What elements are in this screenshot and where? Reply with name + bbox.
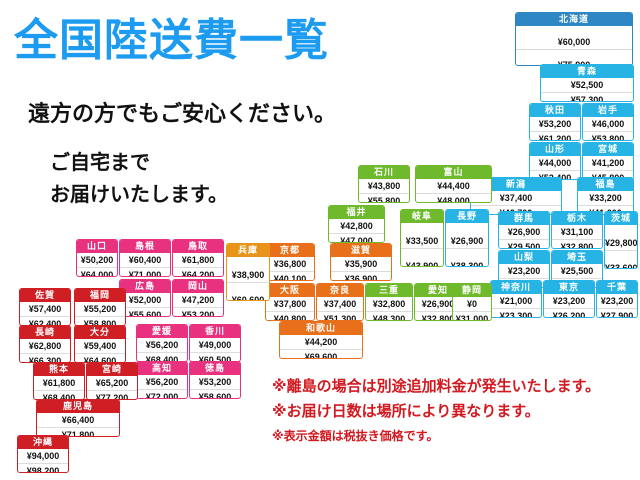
pref-box-kochi[interactable]: 高知¥56,200¥72,000	[136, 361, 188, 399]
pref-fee2-hiroshima: ¥55,600	[120, 307, 170, 317]
pref-box-shiga[interactable]: 滋賀¥35,900¥36,900	[330, 243, 392, 281]
pref-fee1-saga: ¥57,400	[20, 302, 70, 316]
pref-fee1-yamaguchi: ¥50,200	[77, 253, 117, 267]
pref-name-hiroshima: 広島	[120, 280, 170, 293]
pref-name-nagano: 長野	[446, 210, 488, 223]
pref-name-miyagi: 宮城	[583, 143, 633, 156]
pref-name-iwate: 岩手	[583, 104, 633, 117]
pref-fee2-tottori: ¥64,200	[173, 267, 223, 277]
pref-fee1-oita: ¥59,400	[75, 339, 125, 353]
pref-fee2-okinawa: ¥98,200	[18, 463, 68, 473]
note-remote-islands: ※離島の場合は別途追加料金が発生いたします。	[272, 375, 600, 396]
pref-fee1-kumamoto: ¥61,800	[34, 376, 84, 390]
pref-fee2-gunma: ¥29,500	[499, 239, 549, 249]
pref-fee1-fukushima: ¥33,200	[578, 191, 633, 205]
pref-fee2-chiba: ¥27,900	[597, 308, 637, 318]
pref-box-shimane[interactable]: 島根¥60,400¥71,000	[119, 239, 171, 277]
pref-box-aomori[interactable]: 青森¥52,500¥57,300	[540, 64, 634, 102]
pref-box-hokkaido[interactable]: 北海道¥60,000¥75,900	[515, 12, 633, 66]
pref-fee1-ishikawa: ¥43,800	[359, 179, 409, 193]
pref-fee1-gifu: ¥33,500	[401, 223, 443, 248]
pref-fee1-kyoto: ¥36,800	[266, 257, 314, 271]
pref-name-tottori: 鳥取	[173, 240, 223, 253]
pref-fee2-kyoto: ¥40,100	[266, 271, 314, 281]
pref-fee1-kagawa: ¥49,000	[190, 338, 240, 352]
pref-fee1-iwate: ¥46,000	[583, 117, 633, 131]
pref-fee2-ibaraki: ¥33,600	[605, 250, 637, 270]
pref-fee1-fukui: ¥42,800	[329, 219, 384, 233]
pref-name-kagawa: 香川	[190, 325, 240, 338]
pref-box-tochigi[interactable]: 栃木¥31,100¥32,800	[551, 211, 603, 249]
subtitle-line-2: ご自宅まで	[50, 148, 150, 178]
pref-name-yamanashi: 山梨	[499, 251, 549, 264]
pref-fee1-shizuoka: ¥0	[453, 297, 491, 311]
pref-name-gifu: 岐阜	[401, 210, 443, 223]
pref-box-kagawa[interactable]: 香川¥49,000¥60,500	[189, 324, 241, 362]
pref-fee2-ishikawa: ¥55,800	[359, 193, 409, 203]
pref-box-kyoto[interactable]: 京都¥36,800¥40,100	[265, 243, 315, 281]
pref-box-toyama[interactable]: 富山¥44,400¥48,000	[415, 165, 492, 203]
pref-fee1-kanagawa: ¥21,000	[491, 294, 541, 308]
pref-name-yamagata: 山形	[530, 143, 580, 156]
pref-fee2-shizuoka: ¥31,000	[453, 311, 491, 321]
pref-fee1-hiroshima: ¥52,000	[120, 293, 170, 307]
pref-fee1-kochi: ¥56,200	[137, 375, 187, 389]
pref-name-fukui: 福井	[329, 206, 384, 219]
pref-name-miyazaki: 宮崎	[87, 363, 137, 376]
pref-box-ishikawa[interactable]: 石川¥43,800¥55,800	[358, 165, 410, 203]
pref-fee2-toyama: ¥48,000	[416, 193, 491, 203]
pref-name-ishikawa: 石川	[359, 166, 409, 179]
pref-name-tokushima: 徳島	[190, 362, 240, 375]
pref-box-saga[interactable]: 佐賀¥57,400¥62,400	[19, 288, 71, 326]
pref-fee2-mie: ¥48,300	[366, 311, 412, 321]
pref-name-mie: 三重	[366, 284, 412, 297]
pref-box-chiba[interactable]: 千葉¥23,200¥27,900	[596, 280, 638, 318]
pref-name-yamaguchi: 山口	[77, 240, 117, 253]
pref-fee1-tokushima: ¥53,200	[190, 375, 240, 389]
pref-box-oita[interactable]: 大分¥59,400¥64,600	[74, 325, 126, 363]
pref-fee2-nagano: ¥38,300	[446, 248, 488, 268]
pref-box-okinawa[interactable]: 沖縄¥94,000¥98,200	[17, 435, 69, 473]
pref-name-shiga: 滋賀	[331, 244, 391, 257]
pref-fee2-kanagawa: ¥23,300	[491, 308, 541, 318]
pref-fee2-tokushima: ¥58,600	[190, 389, 240, 399]
pref-fee2-aomori: ¥57,300	[541, 92, 633, 102]
pref-name-kumamoto: 熊本	[34, 363, 84, 376]
pref-fee2-yamaguchi: ¥64,000	[77, 267, 117, 277]
pref-name-okinawa: 沖縄	[18, 436, 68, 449]
pref-box-tottori[interactable]: 鳥取¥61,800¥64,200	[172, 239, 224, 277]
pref-fee2-kochi: ¥72,000	[137, 389, 187, 399]
pref-fee1-aomori: ¥52,500	[541, 78, 633, 92]
pref-box-osaka[interactable]: 大阪¥37,800¥40,800	[265, 283, 315, 321]
note-delivery-days: ※お届け日数は場所により異なります。	[272, 400, 540, 421]
pref-box-gifu[interactable]: 岐阜¥33,500¥43,900	[400, 209, 444, 267]
pref-name-chiba: 千葉	[597, 281, 637, 294]
pref-box-mie[interactable]: 三重¥32,800¥48,300	[365, 283, 413, 321]
pref-fee1-miyagi: ¥41,200	[583, 156, 633, 170]
pref-name-fukushima: 福島	[578, 178, 633, 191]
pref-box-tokyo[interactable]: 東京¥23,200¥26,200	[543, 280, 595, 318]
pref-box-kagoshima[interactable]: 鹿児島¥66,400¥71,800	[36, 399, 120, 437]
pref-fee1-wakayama: ¥44,200	[280, 335, 362, 349]
pref-name-fukuoka: 福岡	[75, 289, 125, 302]
pref-box-ibaraki[interactable]: 茨城¥29,800¥33,600	[604, 211, 638, 269]
pref-box-iwate[interactable]: 岩手¥46,000¥53,800	[582, 103, 634, 141]
pref-box-fukuoka[interactable]: 福岡¥55,200¥58,800	[74, 288, 126, 326]
pref-name-akita: 秋田	[530, 104, 580, 117]
pref-name-toyama: 富山	[416, 166, 491, 179]
pref-fee1-nara: ¥37,400	[317, 297, 363, 311]
pref-fee2-nara: ¥51,300	[317, 311, 363, 321]
page-title: 全国陸送費一覧	[14, 13, 329, 69]
pref-fee2-tokyo: ¥26,200	[544, 308, 594, 318]
pref-fee1-toyama: ¥44,400	[416, 179, 491, 193]
pref-fee1-mie: ¥32,800	[366, 297, 412, 311]
pref-box-kanagawa[interactable]: 神奈川¥21,000¥23,300	[490, 280, 542, 318]
pref-fee1-okayama: ¥47,200	[173, 293, 223, 307]
pref-box-ehime[interactable]: 愛媛¥56,200¥68,400	[136, 324, 188, 362]
pref-fee2-fukui: ¥47,000	[329, 233, 384, 243]
pref-fee1-shiga: ¥35,900	[331, 257, 391, 271]
pref-fee1-miyazaki: ¥65,200	[87, 376, 137, 390]
pref-fee1-osaka: ¥37,800	[266, 297, 314, 311]
pref-fee2-wakayama: ¥69,600	[280, 349, 362, 359]
pref-fee2-tochigi: ¥32,800	[552, 239, 602, 249]
pref-box-yamaguchi[interactable]: 山口¥50,200¥64,000	[76, 239, 118, 277]
note-tax-excluded: ※表示金額は税抜き価格です。	[272, 427, 438, 444]
pref-name-hokkaido: 北海道	[516, 13, 632, 26]
pref-box-okayama[interactable]: 岡山¥47,200¥53,200	[172, 279, 224, 317]
pref-fee2-okayama: ¥53,200	[173, 307, 223, 317]
pref-fee1-ibaraki: ¥29,800	[605, 225, 637, 250]
pref-fee2-shiga: ¥36,900	[331, 271, 391, 281]
pref-box-hyogo[interactable]: 兵庫¥38,900¥60,600	[226, 243, 270, 301]
pref-name-tochigi: 栃木	[552, 212, 602, 225]
pref-fee1-gunma: ¥26,900	[499, 225, 549, 239]
pref-box-nagano[interactable]: 長野¥26,900¥38,300	[445, 209, 489, 267]
pref-box-gunma[interactable]: 群馬¥26,900¥29,500	[498, 211, 550, 249]
pref-box-tokushima[interactable]: 徳島¥53,200¥58,600	[189, 361, 241, 399]
pref-name-shimane: 島根	[120, 240, 170, 253]
pref-name-ibaraki: 茨城	[605, 212, 637, 225]
pref-box-kumamoto[interactable]: 熊本¥61,800¥68,400	[33, 362, 85, 400]
pref-name-gunma: 群馬	[499, 212, 549, 225]
pref-fee1-okinawa: ¥94,000	[18, 449, 68, 463]
pref-fee2-shimane: ¥71,000	[120, 267, 170, 277]
pref-name-saga: 佐賀	[20, 289, 70, 302]
pref-name-ehime: 愛媛	[137, 325, 187, 338]
pref-name-kyoto: 京都	[266, 244, 314, 257]
pref-fee2-gifu: ¥43,900	[401, 248, 443, 268]
pref-fee1-yamagata: ¥44,000	[530, 156, 580, 170]
pref-box-yamagata[interactable]: 山形¥44,000¥52,400	[529, 142, 581, 180]
pref-name-tokyo: 東京	[544, 281, 594, 294]
pref-fee1-shimane: ¥60,400	[120, 253, 170, 267]
pref-name-shizuoka: 静岡	[453, 284, 491, 297]
pref-name-saitama: 埼玉	[552, 251, 602, 264]
pref-box-fukushima[interactable]: 福島¥33,200¥41,600	[577, 177, 634, 215]
pref-name-kagoshima: 鹿児島	[37, 400, 119, 413]
subtitle-line-1: 遠方の方でもご安心ください。	[28, 101, 336, 127]
pref-name-osaka: 大阪	[266, 284, 314, 297]
pref-box-wakayama[interactable]: 和歌山¥44,200¥69,600	[279, 321, 363, 359]
pref-box-miyazaki[interactable]: 宮崎¥65,200¥77,200	[86, 362, 138, 400]
pref-name-nagasaki: 長崎	[20, 326, 70, 339]
pref-name-wakayama: 和歌山	[280, 322, 362, 335]
pref-fee1-hyogo: ¥38,900	[227, 257, 269, 282]
pref-name-kochi: 高知	[137, 362, 187, 375]
pref-fee1-ehime: ¥56,200	[137, 338, 187, 352]
pref-fee1-chiba: ¥23,200	[597, 294, 637, 308]
pref-fee1-tokyo: ¥23,200	[544, 294, 594, 308]
pref-fee2-iwate: ¥53,800	[583, 131, 633, 141]
pref-name-aomori: 青森	[541, 65, 633, 78]
pref-box-shizuoka[interactable]: 静岡¥0¥31,000	[452, 283, 492, 321]
pref-name-oita: 大分	[75, 326, 125, 339]
pref-box-fukui[interactable]: 福井¥42,800¥47,000	[328, 205, 385, 243]
pref-fee1-tottori: ¥61,800	[173, 253, 223, 267]
pref-fee2-akita: ¥61,200	[530, 131, 580, 141]
pref-box-miyagi[interactable]: 宮城¥41,200¥45,800	[582, 142, 634, 180]
pref-fee2-hyogo: ¥60,600	[227, 282, 269, 302]
pref-fee1-hokkaido: ¥60,000	[516, 26, 632, 49]
pref-box-nagasaki[interactable]: 長崎¥62,800¥66,300	[19, 325, 71, 363]
pref-name-nara: 奈良	[317, 284, 363, 297]
pref-fee1-kagoshima: ¥66,400	[37, 413, 119, 427]
shipping-fee-poster: 全国陸送費一覧 遠方の方でもご安心ください。 ご自宅まで お届けいたします。 北…	[0, 0, 640, 480]
pref-fee1-yamanashi: ¥23,200	[499, 264, 549, 278]
pref-fee2-osaka: ¥40,800	[266, 311, 314, 321]
pref-fee1-nagasaki: ¥62,800	[20, 339, 70, 353]
pref-name-kanagawa: 神奈川	[491, 281, 541, 294]
pref-fee1-akita: ¥53,200	[530, 117, 580, 131]
pref-fee1-fukuoka: ¥55,200	[75, 302, 125, 316]
pref-name-okayama: 岡山	[173, 280, 223, 293]
pref-name-hyogo: 兵庫	[227, 244, 269, 257]
pref-box-akita[interactable]: 秋田¥53,200¥61,200	[529, 103, 581, 141]
pref-box-nara[interactable]: 奈良¥37,400¥51,300	[316, 283, 364, 321]
subtitle-line-3: お届けいたします。	[50, 180, 228, 210]
pref-fee1-nagano: ¥26,900	[446, 223, 488, 248]
pref-fee1-tochigi: ¥31,100	[552, 225, 602, 239]
pref-box-hiroshima[interactable]: 広島¥52,000¥55,600	[119, 279, 171, 317]
pref-fee1-saitama: ¥25,500	[552, 264, 602, 278]
